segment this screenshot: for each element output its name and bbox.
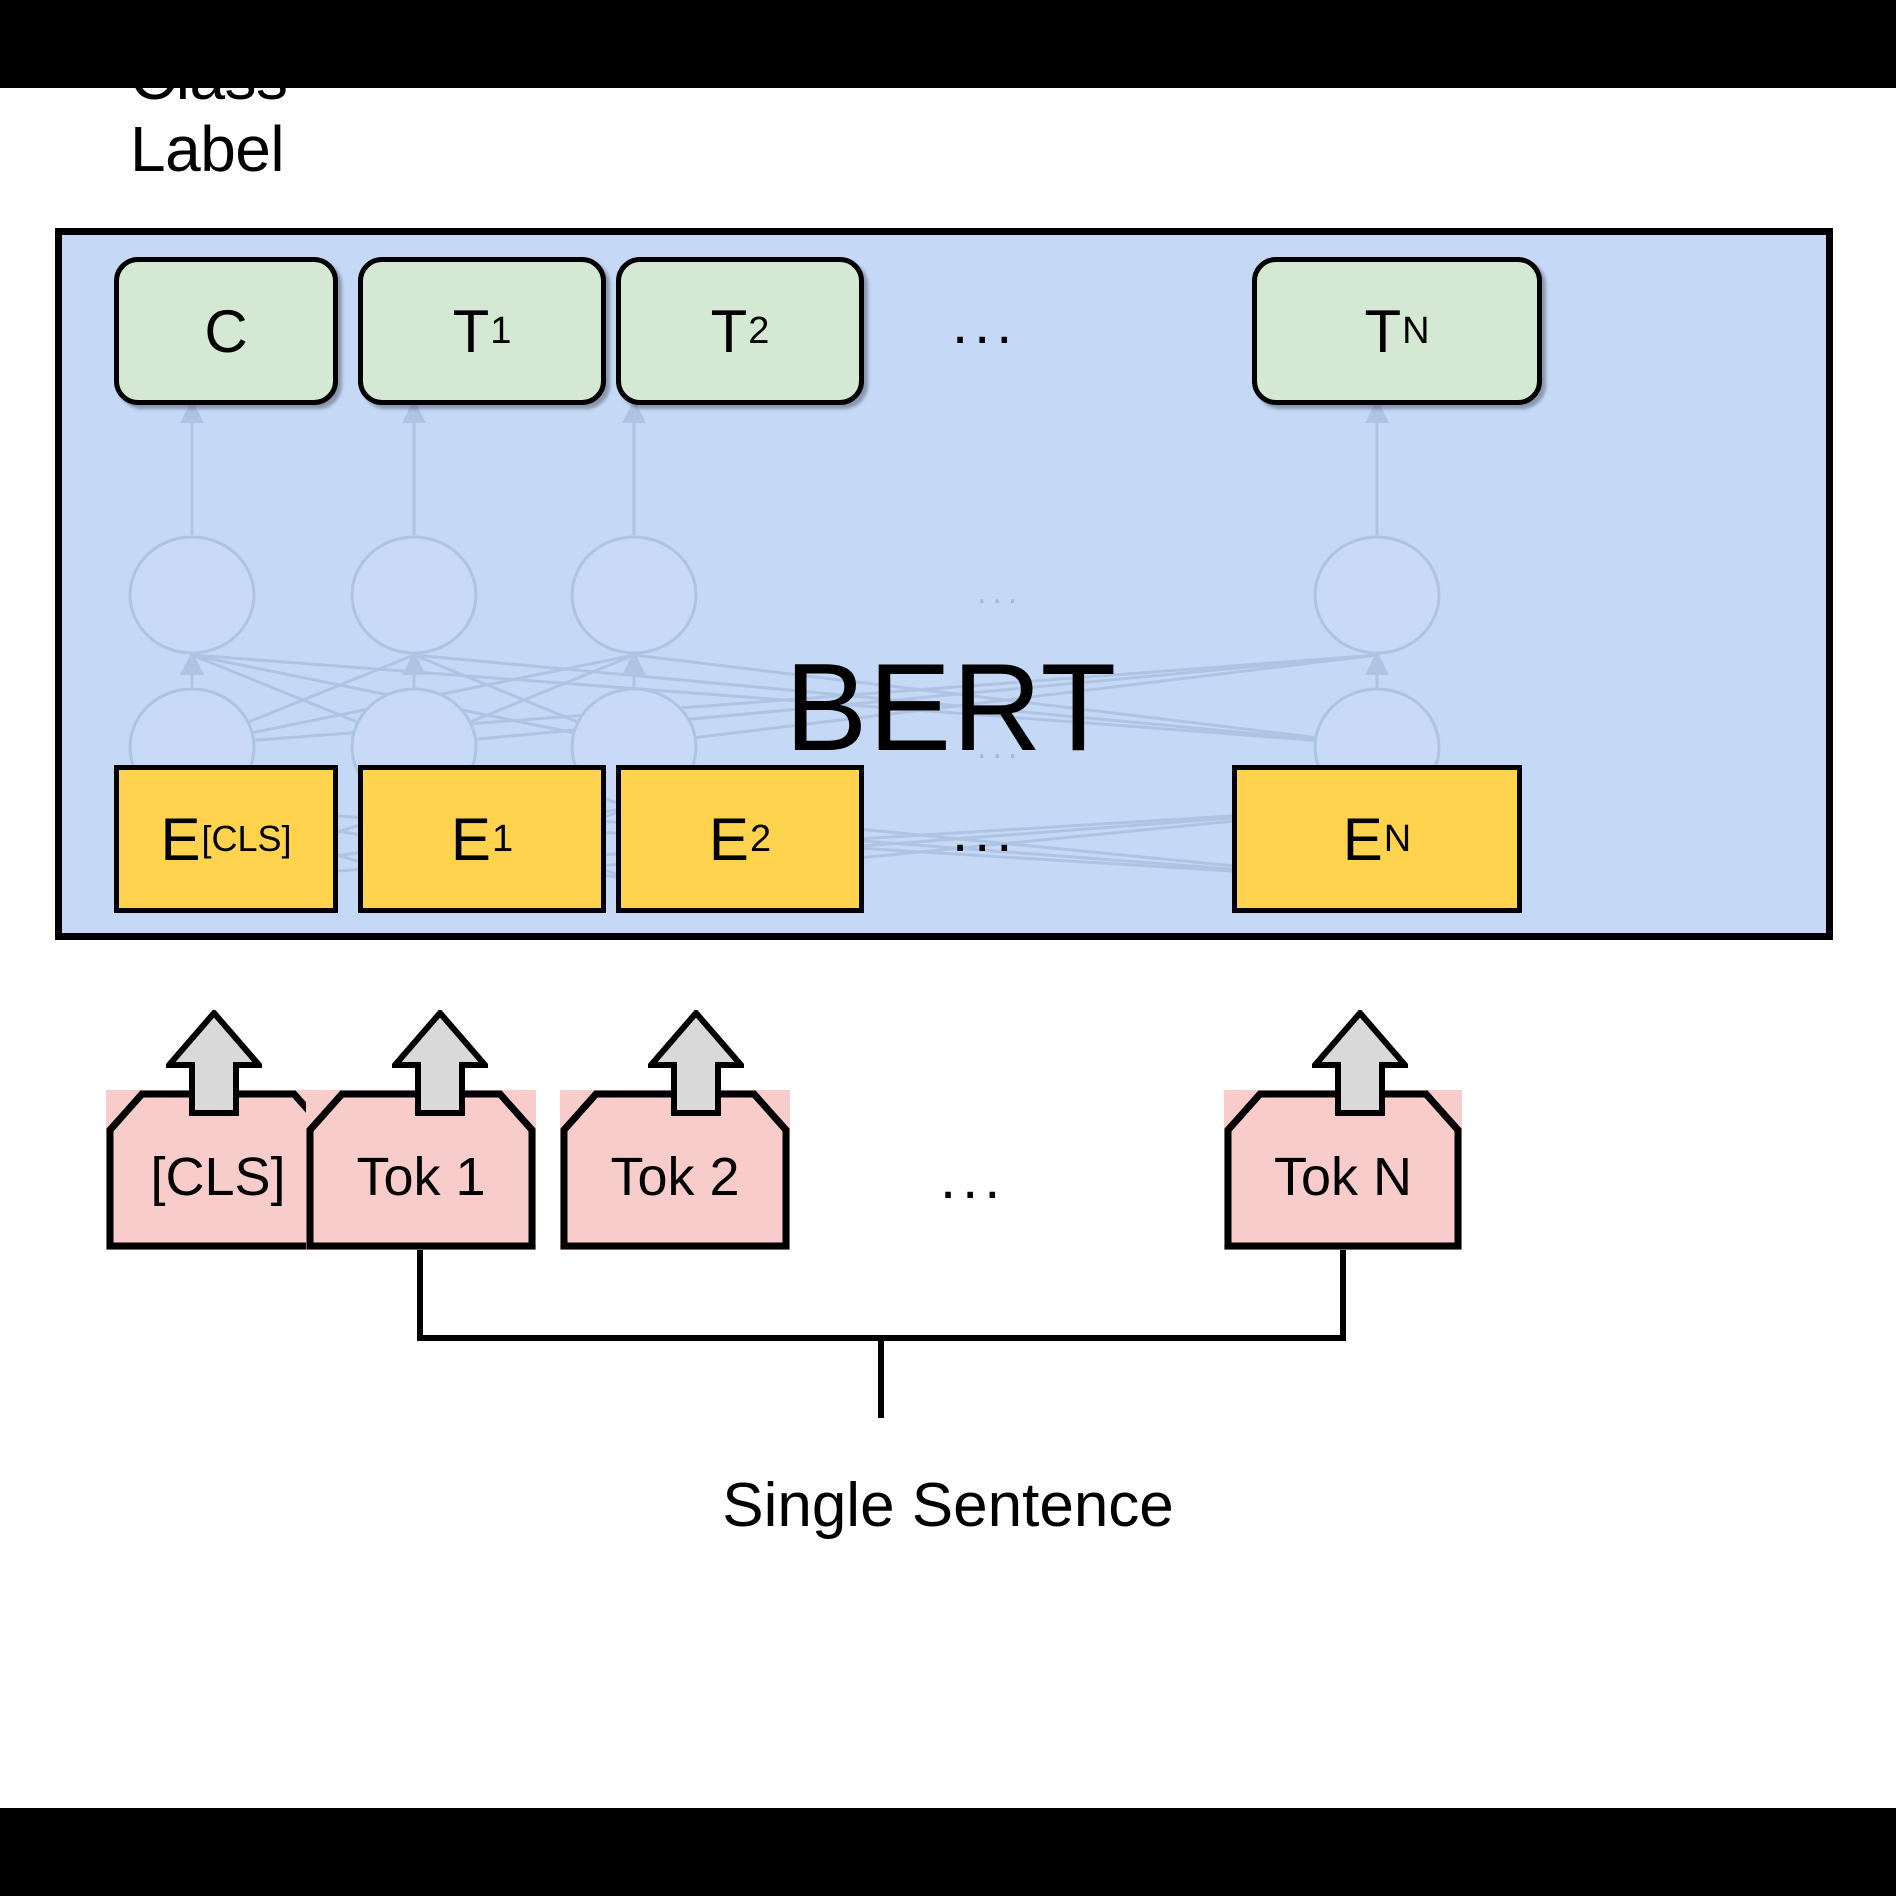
- output-token-c-label: C: [204, 297, 247, 366]
- internals-ellipsis-lower: ...: [977, 730, 1023, 764]
- output-token-t1-base: T: [453, 297, 490, 366]
- input-arrow-tok2-icon: [648, 1010, 744, 1116]
- output-token-ellipsis: ...: [952, 295, 1018, 353]
- figure-canvas: Class Label: [0, 0, 1896, 1896]
- output-token-t1[interactable]: T1: [358, 257, 606, 405]
- output-token-tn-sub: N: [1402, 310, 1429, 353]
- input-arrow-cls-icon: [166, 1010, 262, 1116]
- output-token-row: C T1 T2 TN ...: [62, 257, 1840, 407]
- embedding-e1-base: E: [451, 805, 491, 874]
- embedding-e-cls-sub: [CLS]: [201, 818, 291, 860]
- input-token-ellipsis: ...: [940, 1150, 1006, 1208]
- single-sentence-bracket: [0, 1240, 1896, 1420]
- output-token-t2-sub: 2: [748, 310, 769, 353]
- embedding-e2-base: E: [709, 805, 749, 874]
- input-arrow-tokn-icon: [1312, 1010, 1408, 1116]
- embedding-e1-sub: 1: [492, 818, 513, 861]
- embedding-e2[interactable]: E2: [616, 765, 864, 913]
- embedding-en-sub: N: [1384, 818, 1411, 861]
- output-token-t2[interactable]: T2: [616, 257, 864, 405]
- output-token-tn[interactable]: TN: [1252, 257, 1542, 405]
- embedding-en[interactable]: EN: [1232, 765, 1522, 913]
- embedding-e-cls[interactable]: E[CLS]: [114, 765, 338, 913]
- embedding-e1[interactable]: E1: [358, 765, 606, 913]
- input-arrow-tok1-icon: [392, 1010, 488, 1116]
- embedding-e2-sub: 2: [750, 818, 771, 861]
- embedding-e-cls-base: E: [160, 805, 200, 874]
- single-sentence-label: Single Sentence: [0, 1470, 1896, 1541]
- class-label-text: Class Label: [130, 42, 288, 185]
- output-token-tn-base: T: [1364, 297, 1401, 366]
- embedding-row: E[CLS] E1 E2 EN ...: [62, 765, 1840, 913]
- bert-encoder-block: ... ... BERT C T1 T2 TN ... E[CLS]: [55, 228, 1833, 940]
- output-token-c[interactable]: C: [114, 257, 338, 405]
- output-token-t1-sub: 1: [490, 310, 511, 353]
- embedding-ellipsis: ...: [952, 803, 1018, 861]
- output-token-t2-base: T: [711, 297, 748, 366]
- internals-ellipsis-upper: ...: [977, 575, 1023, 609]
- embedding-en-base: E: [1343, 805, 1383, 874]
